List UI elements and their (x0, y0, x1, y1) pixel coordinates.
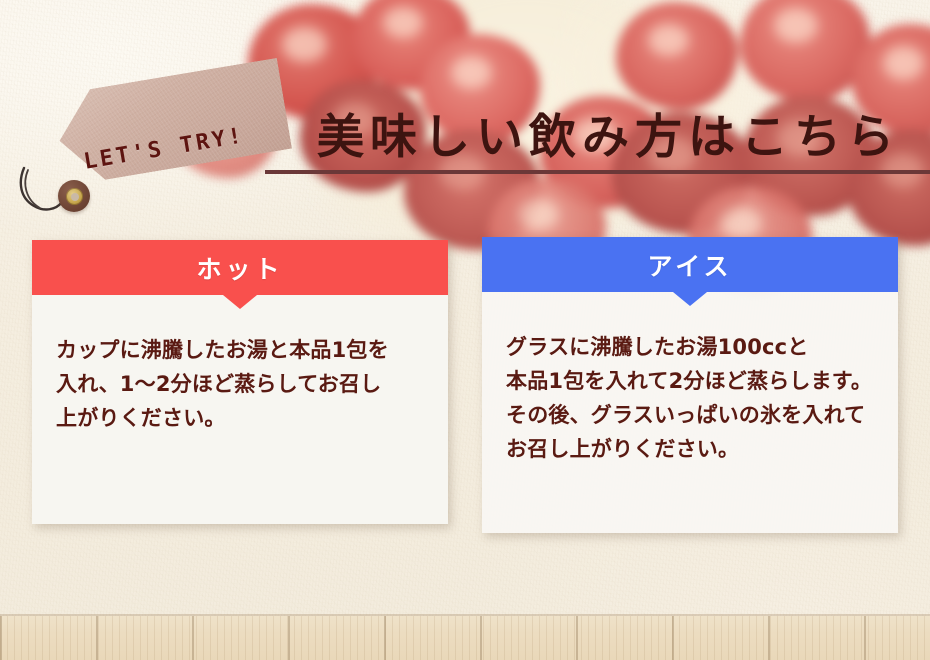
background-wood-strip (0, 616, 930, 660)
card-hot-header: ホット (32, 240, 448, 295)
title-underline (265, 170, 930, 174)
eyelet-hole (71, 193, 79, 201)
card-hot-notch-icon (223, 295, 257, 309)
page-title: 美味しい飲み方はこちら (265, 110, 930, 165)
card-ice-instructions: グラスに沸騰したお湯100ccと 本品1包を入れて2分ほど蒸らします。 その後、… (506, 330, 898, 466)
card-ice-notch-icon (673, 292, 707, 306)
card-ice-header: アイス (482, 237, 898, 292)
card-hot-body: カップに沸騰したお湯と本品1包を 入れ、1〜2分ほど蒸らしてお召し 上がりくださ… (32, 295, 448, 524)
promo-banner: LET'S TRY! 美味しい飲み方はこちら ホット カップに沸騰したお湯と本品… (0, 0, 930, 660)
card-ice-body: グラスに沸騰したお湯100ccと 本品1包を入れて2分ほど蒸らします。 その後、… (482, 292, 898, 533)
page-title-block: 美味しい飲み方はこちら (265, 110, 930, 174)
card-ice-title: アイス (482, 237, 898, 292)
card-ice: アイス グラスに沸騰したお湯100ccと 本品1包を入れて2分ほど蒸らします。 … (482, 237, 898, 533)
card-hot-instructions: カップに沸騰したお湯と本品1包を 入れ、1〜2分ほど蒸らしてお召し 上がりくださ… (56, 333, 448, 435)
card-hot-title: ホット (32, 240, 448, 295)
card-hot: ホット カップに沸騰したお湯と本品1包を 入れ、1〜2分ほど蒸らしてお召し 上が… (32, 240, 448, 524)
lets-try-tag: LET'S TRY! (22, 68, 292, 188)
